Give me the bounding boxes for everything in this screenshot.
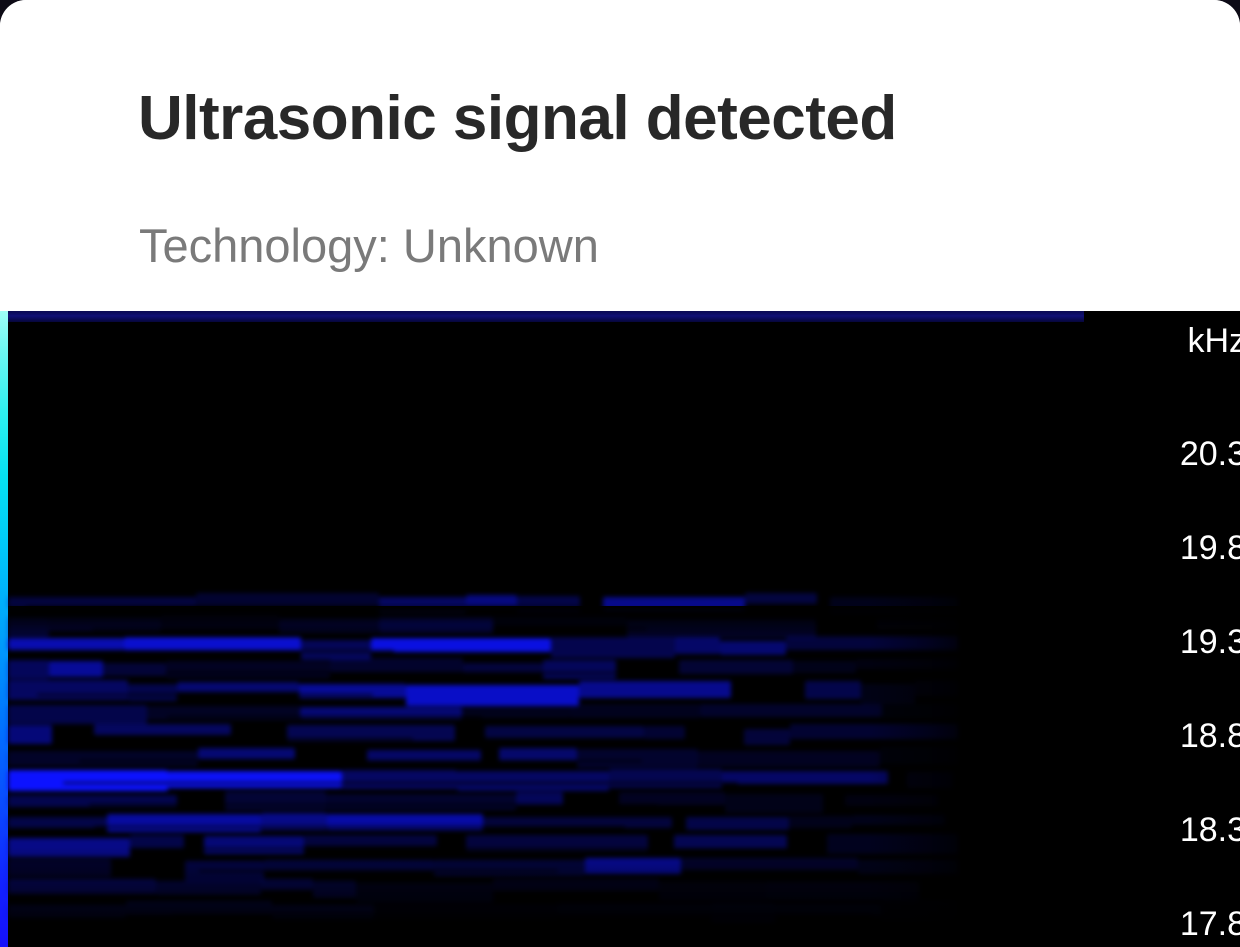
spectrogram-band-segment xyxy=(406,685,579,705)
ultrasonic-detection-card: Ultrasonic signal detected Technology: U… xyxy=(0,0,1240,947)
frequency-axis: kHz 20.319.819.318.818.317.8 xyxy=(1100,311,1240,947)
spectrogram-band-segment xyxy=(805,681,860,699)
spectrogram-band-segment xyxy=(198,748,295,759)
spectrogram-band-segment xyxy=(722,771,888,784)
spectrogram-top-band xyxy=(0,311,1084,322)
axis-tick-19-8: 19.8 xyxy=(1180,531,1240,565)
spectrogram-band-segment xyxy=(8,770,168,791)
spectrogram-scan-line xyxy=(63,782,738,784)
spectrogram-band-segment xyxy=(49,661,103,677)
spectrogram-band-segment xyxy=(543,660,616,679)
colormap-scale-strip xyxy=(0,311,8,947)
spectrogram-band-segment xyxy=(103,663,166,675)
spectrogram-band-segment xyxy=(166,661,329,678)
spectrogram-band-segment xyxy=(8,817,107,828)
spectrogram-band-segment xyxy=(551,637,675,657)
spectrogram-band-segment xyxy=(698,751,880,768)
signal-bottom-fade xyxy=(8,847,998,937)
spectrogram-band-segment xyxy=(304,835,437,846)
spectrogram-band-segment xyxy=(793,661,856,673)
spectrogram-band-segment xyxy=(8,725,52,744)
spectrogram-band-segment xyxy=(8,660,49,679)
spectrogram-band-segment xyxy=(725,794,823,814)
spectrogram-band-segment xyxy=(326,794,516,810)
spectrogram-scan-line xyxy=(167,716,483,718)
spectrogram-scan-line xyxy=(15,650,394,652)
spectrogram-band-segment xyxy=(700,704,882,718)
spectrogram-scan-line xyxy=(94,826,625,828)
spectrogram-band-segment xyxy=(225,791,326,810)
spectrogram-scan-line xyxy=(79,760,642,762)
spectrogram-band-segment xyxy=(177,682,299,692)
spectrogram-band-segment xyxy=(499,748,577,761)
spectrogram-band-segment xyxy=(570,704,700,718)
spectrogram-band-segment xyxy=(327,814,483,830)
spectrogram-scan-line xyxy=(37,694,373,696)
spectrogram-band-segment xyxy=(342,770,457,789)
spectrogram-band-segment xyxy=(196,593,379,606)
spectrogram-band-segment xyxy=(130,835,184,847)
spectrogram-band-segment xyxy=(457,771,609,791)
spectrogram-band-segment xyxy=(168,771,342,789)
axis-tick-20-3: 20.3 xyxy=(1180,437,1240,471)
page-title: Ultrasonic signal detected xyxy=(138,88,897,150)
spectrogram-band-segment xyxy=(577,749,697,768)
spectrogram-panel[interactable]: kHz 20.319.819.318.818.317.8 xyxy=(0,311,1240,947)
spectrogram-band-segment xyxy=(299,684,406,697)
axis-tick-18-8: 18.8 xyxy=(1180,719,1240,753)
spectrogram-band-segment xyxy=(8,680,128,700)
axis-unit-label: kHz xyxy=(1187,324,1240,358)
spectrogram-band-segment xyxy=(579,681,732,698)
spectrogram-band-segment xyxy=(679,660,793,674)
spectrogram-band-segment xyxy=(330,658,463,672)
axis-tick-18-3: 18.3 xyxy=(1180,813,1240,847)
signal-top-fade xyxy=(8,606,998,640)
dialog-header: Ultrasonic signal detected Technology: U… xyxy=(0,0,1240,311)
spectrogram-band-segment xyxy=(619,792,724,805)
axis-tick-17-8: 17.8 xyxy=(1180,907,1240,941)
spectrogram-band-segment xyxy=(8,705,147,724)
spectrogram-band-segment xyxy=(720,641,786,656)
spectrogram-band-segment xyxy=(789,816,852,828)
technology-subtitle: Technology: Unknown xyxy=(139,222,599,269)
spectrogram-band-segment xyxy=(128,684,177,700)
spectrogram-scan-line xyxy=(89,804,658,806)
spectrogram-band-segment xyxy=(485,726,644,738)
spectrogram-scan-line xyxy=(79,738,413,740)
spectrogram-band-segment xyxy=(686,817,788,830)
spectrogram-band-segment xyxy=(744,729,790,745)
spectrogram-band-segment xyxy=(644,726,685,740)
spectrogram-scan-line xyxy=(166,672,654,674)
spectrogram-band-segment xyxy=(8,751,198,766)
spectrogram-band-segment xyxy=(107,814,262,832)
axis-tick-19-3: 19.3 xyxy=(1180,625,1240,659)
spectrogram-band-segment xyxy=(94,724,231,735)
spectrogram-band-segment xyxy=(745,593,818,605)
spectrogram-band-segment xyxy=(609,769,722,787)
spectrogram-band-segment xyxy=(147,706,300,721)
